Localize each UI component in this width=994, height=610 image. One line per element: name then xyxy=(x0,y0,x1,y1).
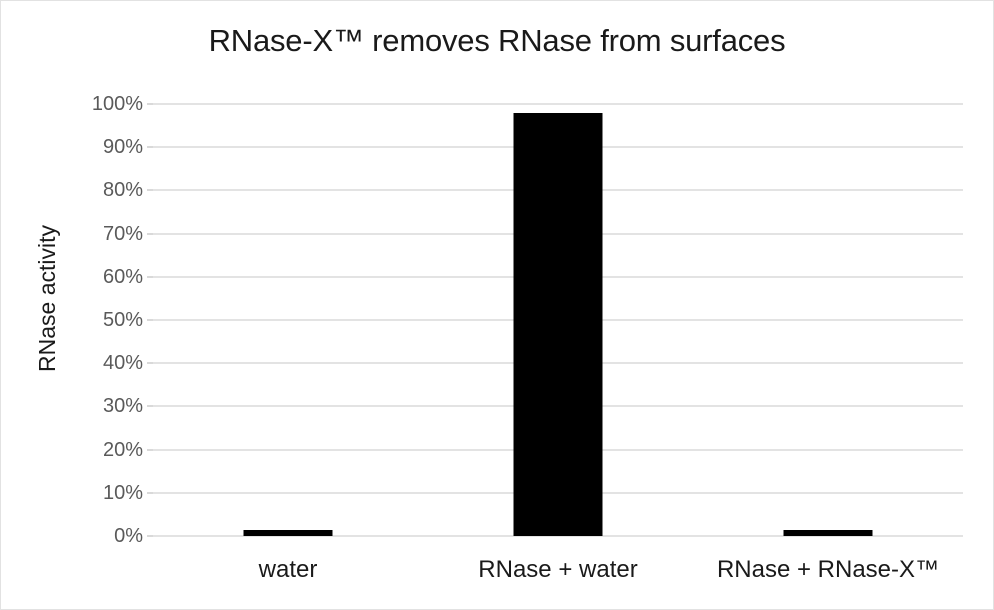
x-axis-category-label: RNase + water xyxy=(478,553,637,587)
y-axis-tick-label: 50% xyxy=(103,310,143,330)
y-axis-tick-label: 30% xyxy=(103,396,143,416)
chart-title: RNase-X™ removes RNase from surfaces xyxy=(1,21,993,61)
y-axis-tick-label: 10% xyxy=(103,483,143,503)
y-axis-tick-label: 40% xyxy=(103,353,143,373)
x-axis-labels: waterRNase + waterRNase + RNase-X™ xyxy=(153,553,963,597)
y-axis-tick-label: 100% xyxy=(92,94,143,114)
x-axis-category-label: RNase + RNase-X™ xyxy=(717,553,939,587)
y-axis-title: RNase activity xyxy=(27,1,67,610)
y-axis-tick-label: 90% xyxy=(103,137,143,157)
y-axis-tick-label: 20% xyxy=(103,440,143,460)
plot-area: 100%90%80%70%60%50%40%30%20%10%0% xyxy=(153,104,963,536)
chart-container: RNase-X™ removes RNase from surfaces RNa… xyxy=(0,0,994,610)
bar-slot xyxy=(693,104,963,536)
bar-slot xyxy=(153,104,423,536)
bar[interactable] xyxy=(244,530,333,536)
bar[interactable] xyxy=(514,113,603,536)
y-axis-tick-label: 0% xyxy=(114,526,143,546)
y-axis-tick-label: 60% xyxy=(103,267,143,287)
y-axis-title-label: RNase activity xyxy=(34,225,61,372)
x-axis-category-label: water xyxy=(259,553,318,587)
bar-slot xyxy=(423,104,693,536)
bar-series xyxy=(153,104,963,536)
y-axis-tick-label: 70% xyxy=(103,224,143,244)
y-axis-tick-label: 80% xyxy=(103,180,143,200)
bar[interactable] xyxy=(784,530,873,536)
